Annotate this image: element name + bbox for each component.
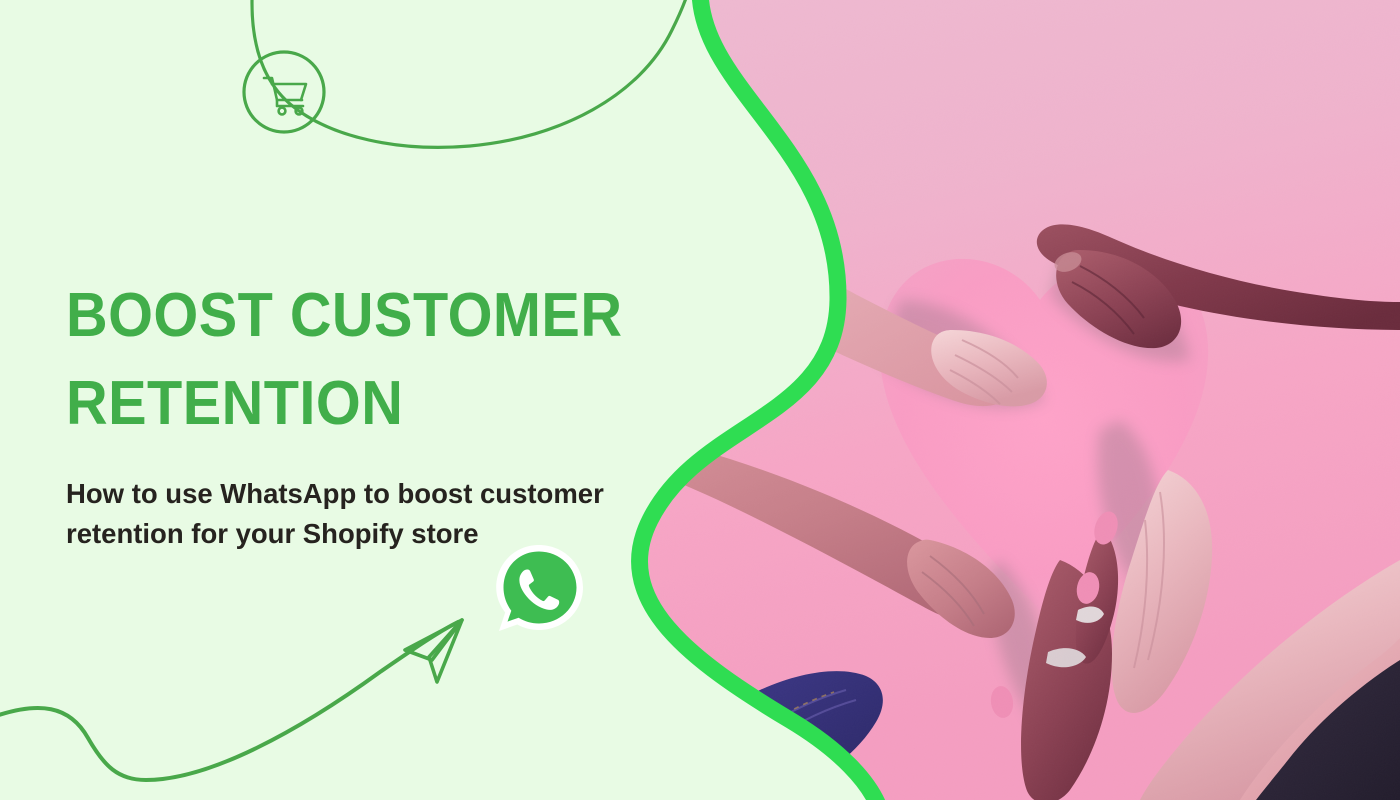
page-subtitle: How to use WhatsApp to boost customer re… xyxy=(66,448,686,554)
whatsapp-logo-icon xyxy=(491,542,587,638)
hero-text-block: BOOST CUSTOMER RETENTION How to use What… xyxy=(66,272,686,554)
page-title: BOOST CUSTOMER RETENTION xyxy=(66,272,643,448)
whatsapp-logo-badge[interactable] xyxy=(491,542,587,638)
banner-hero: BOOST CUSTOMER RETENTION How to use What… xyxy=(0,0,1400,800)
